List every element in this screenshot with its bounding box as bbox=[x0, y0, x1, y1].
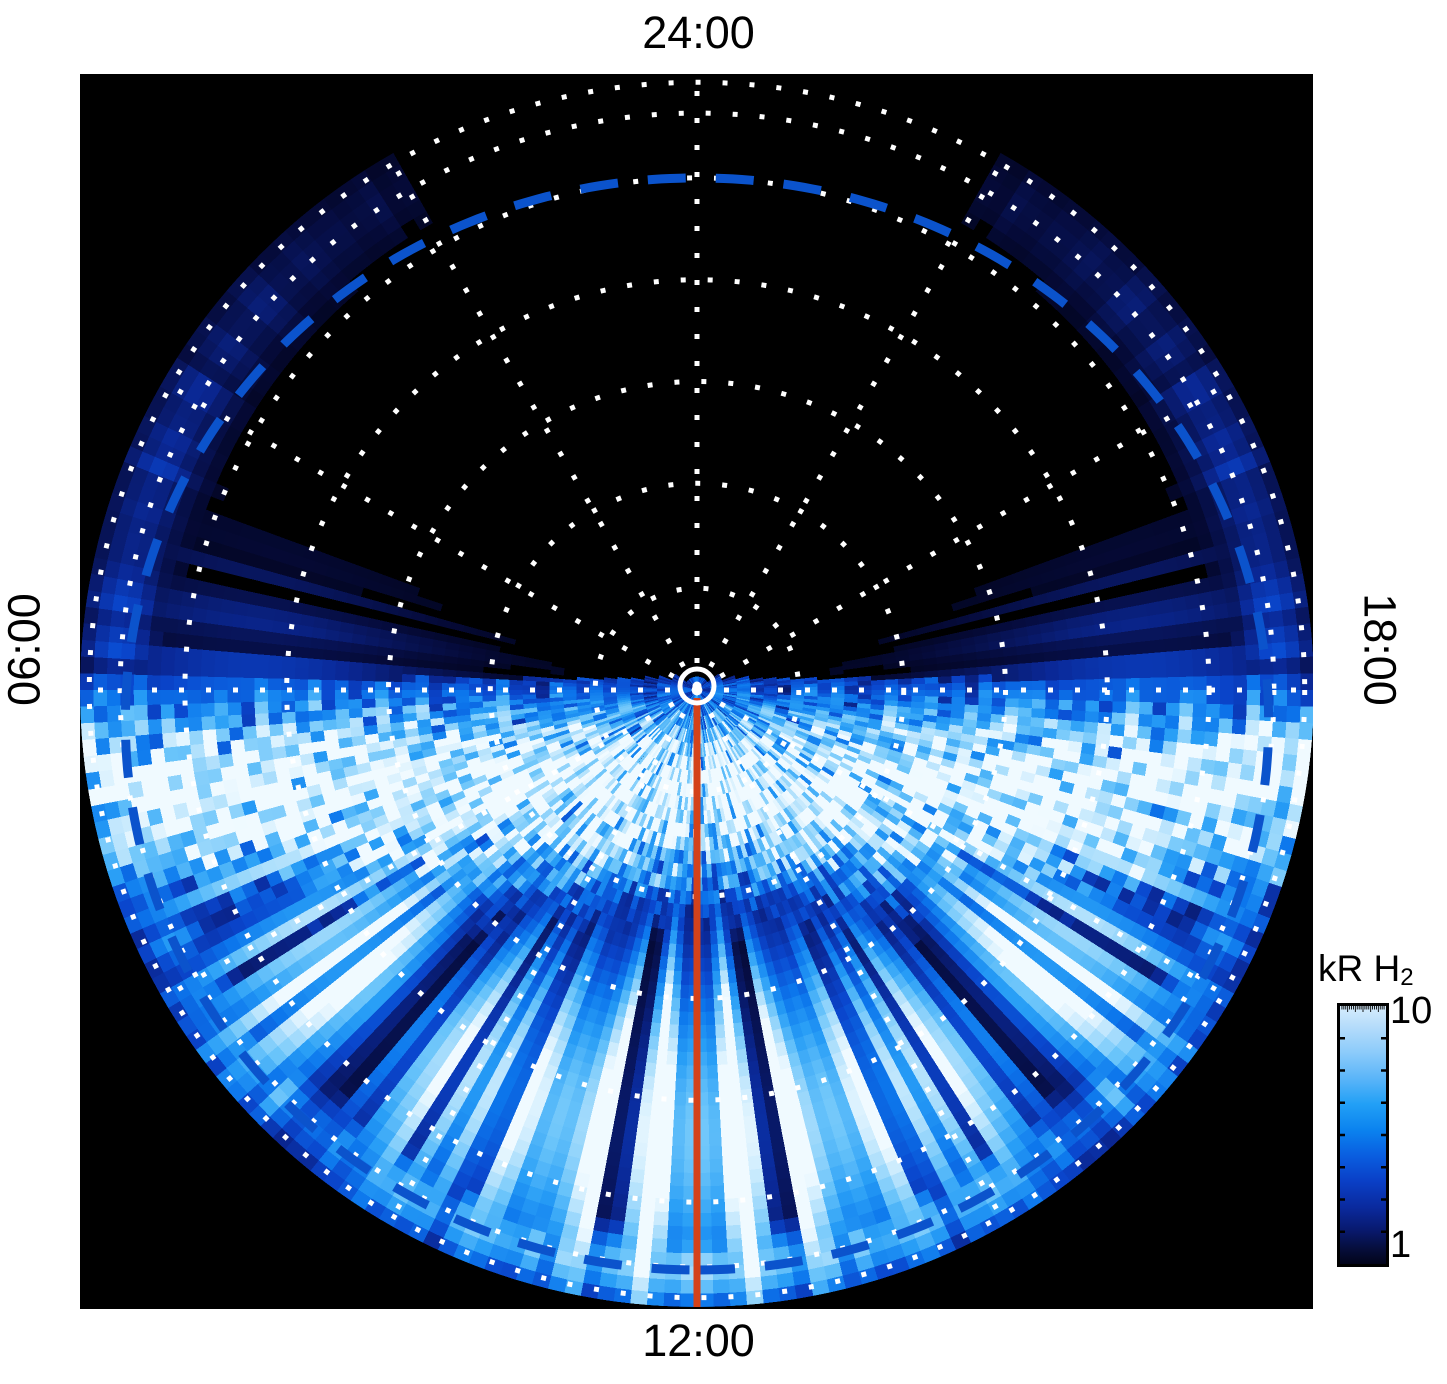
colorbar-title-main: kR H bbox=[1318, 948, 1400, 989]
aurora-heatmap bbox=[80, 74, 1313, 1309]
polar-plot-area bbox=[80, 74, 1313, 1309]
figure-root: 24:00 12:00 06:00 18:00 kR H2 10 1 bbox=[0, 0, 1447, 1384]
colorbar-max-label: 10 bbox=[1390, 992, 1432, 1030]
local-time-label-dusk: 18:00 bbox=[1358, 560, 1403, 740]
colorbar: kR H2 10 1 bbox=[1318, 950, 1447, 1325]
colorbar-side-ticks bbox=[1340, 1006, 1386, 1264]
colorbar-bar bbox=[1337, 1003, 1389, 1267]
local-time-label-noon: 12:00 bbox=[0, 1318, 1397, 1363]
local-time-label-dawn: 06:00 bbox=[2, 560, 47, 740]
colorbar-title-subscript: 2 bbox=[1400, 964, 1413, 991]
local-time-label-midnight: 24:00 bbox=[0, 10, 1397, 55]
colorbar-min-label: 1 bbox=[1390, 1226, 1411, 1264]
